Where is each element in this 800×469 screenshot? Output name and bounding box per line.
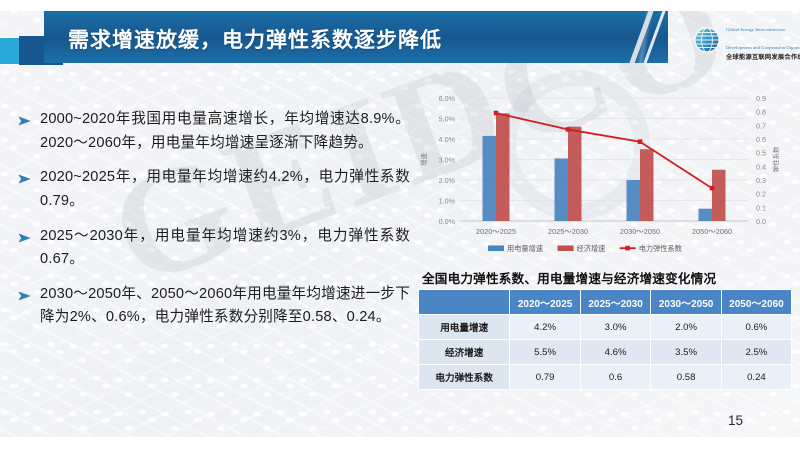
list-item: 2025～2030年，用电量年均增速约3%，电力弹性系数0.67。 [18, 225, 410, 272]
y-axis-tick-label: 0.0% [439, 217, 456, 226]
y-axis-tick-label: 4.0% [439, 135, 456, 144]
y2-axis-tick-label: 0.4 [756, 162, 766, 171]
y2-axis-tick-label: 0.5 [756, 149, 766, 158]
arrow-bullet-icon [18, 166, 40, 189]
x-axis-tick-label: 2030～2050 [620, 227, 660, 236]
slide-canvas: GEIDCO 需求增速放缓，电力弹性系数逐步降低 [0, 0, 800, 450]
list-item: 2020~2025年，用电量年均增速约4.2%，电力弹性系数0.79。 [18, 166, 410, 213]
y2-axis-tick-label: 0.7 [756, 121, 766, 130]
table-column-header: 2025～2030 [580, 290, 650, 315]
logo-english-line-2: Development and Cooperation Organization [726, 45, 800, 50]
bar-economic-growth [640, 149, 654, 221]
y2-axis-tick-label: 0.9 [756, 94, 766, 103]
legend-label: 经济增速 [577, 244, 606, 253]
legend-label: 用电量增速 [507, 244, 543, 253]
table-row-label: 用电量增速 [419, 315, 510, 340]
table-row-label: 经济增速 [419, 340, 510, 365]
data-table: 2020～2025 2025～2030 2030～2050 2050～2060 … [418, 289, 792, 390]
y2-axis-tick-label: 0.1 [756, 203, 766, 212]
page-number: 15 [728, 413, 743, 428]
y-axis-tick-label: 6.0% [439, 94, 456, 103]
bar-electricity-growth [483, 136, 497, 221]
y2-axis-title: 弹性系数 [771, 146, 780, 173]
table-row: 经济增速 5.5% 4.6% 3.5% 2.5% [419, 340, 792, 365]
line-data-point [710, 186, 715, 191]
bar-economic-growth [568, 127, 582, 221]
table-cell: 2.0% [651, 315, 721, 340]
table-cell: 3.5% [651, 340, 721, 365]
y2-axis-tick-label: 0.8 [756, 108, 766, 117]
table-title: 全国电力弹性系数、用电量增速与经济增速变化情况 [422, 268, 716, 287]
elasticity-line [496, 113, 712, 188]
list-item-label: 2000~2020年我国用电量高速增长，年均增速达8.9%。2020～2060年… [40, 108, 410, 155]
organization-logo: Global Energy Interconnection Developmen… [694, 18, 800, 62]
y-axis-tick-label: 3.0% [439, 156, 456, 165]
table-row: 电力弹性系数 0.79 0.6 0.58 0.24 [419, 365, 792, 390]
table-row-label: 电力弹性系数 [419, 365, 510, 390]
y-axis-tick-label: 5.0% [439, 115, 456, 124]
table-cell: 3.0% [580, 315, 650, 340]
bottom-margin-strip [0, 437, 800, 450]
table-cell: 0.79 [510, 365, 580, 390]
bar-electricity-growth [627, 180, 641, 221]
logo-english-line-1: Global Energy Interconnection [726, 27, 786, 32]
list-item-label: 2030～2050年、2050～2060年用电量年均增速进一步下降为2%、0.6… [40, 283, 410, 330]
y2-axis-tick-label: 0.6 [756, 135, 766, 144]
table-cell: 5.5% [510, 340, 580, 365]
legend-swatch [558, 246, 574, 252]
legend-swatch [488, 246, 504, 252]
x-axis-tick-label: 2020～2025 [476, 227, 516, 236]
table-cell: 4.6% [580, 340, 650, 365]
combo-chart: 0.0%1.0%2.0%3.0%4.0%5.0%6.0%0.00.10.20.3… [418, 88, 796, 260]
list-item-label: 2025～2030年，用电量年均增速约3%，电力弹性系数0.67。 [40, 225, 410, 272]
x-axis-tick-label: 2025～2030 [548, 227, 588, 236]
y-axis-tick-label: 1.0% [439, 197, 456, 206]
logo-text-block: Global Energy Interconnection Developmen… [726, 18, 800, 62]
bar-electricity-growth [555, 158, 569, 221]
list-item: 2000~2020年我国用电量高速增长，年均增速达8.9%。2020～2060年… [18, 108, 410, 155]
arrow-bullet-icon [18, 283, 40, 306]
table-corner-cell [419, 290, 510, 315]
bar-economic-growth [496, 113, 510, 221]
list-item-label: 2020~2025年，用电量年均增速约4.2%，电力弹性系数0.79。 [40, 166, 410, 213]
top-margin-strip [0, 0, 800, 11]
arrow-bullet-icon [18, 225, 40, 248]
table-row: 用电量增速 4.2% 3.0% 2.0% 0.6% [419, 315, 792, 340]
bar-economic-growth [712, 170, 726, 221]
x-axis-tick-label: 2050～2060 [692, 227, 732, 236]
y2-axis-tick-label: 0.3 [756, 176, 766, 185]
line-data-point [638, 139, 643, 144]
table-cell: 0.6 [580, 365, 650, 390]
table-cell: 2.5% [721, 340, 791, 365]
bullet-list: 2000~2020年我国用电量高速增长，年均增速达8.9%。2020～2060年… [18, 108, 410, 341]
bar-electricity-growth [699, 209, 713, 221]
table-cell: 0.24 [721, 365, 791, 390]
line-data-point [566, 127, 571, 132]
globe-icon [694, 27, 720, 53]
slide-header: 需求增速放缓，电力弹性系数逐步降低 [0, 11, 800, 63]
page-title: 需求增速放缓，电力弹性系数逐步降低 [68, 24, 442, 54]
logo-chinese-name: 全球能源互联网发展合作组织 [726, 55, 800, 62]
legend-label: 电力弹性系数 [639, 244, 682, 253]
y-axis-title: 增速 [419, 153, 428, 167]
header-slash-decoration [629, 11, 689, 63]
table-cell: 4.2% [510, 315, 580, 340]
chart-canvas: 0.0%1.0%2.0%3.0%4.0%5.0%6.0%0.00.10.20.3… [418, 88, 796, 260]
table-cell: 0.58 [651, 365, 721, 390]
table-cell: 0.6% [721, 315, 791, 340]
table-column-header: 2050～2060 [721, 290, 791, 315]
table-header-row: 2020～2025 2025～2030 2030～2050 2050～2060 [419, 290, 792, 315]
table-column-header: 2020～2025 [510, 290, 580, 315]
legend-marker [625, 246, 630, 251]
y-axis-tick-label: 2.0% [439, 176, 456, 185]
list-item: 2030～2050年、2050～2060年用电量年均增速进一步下降为2%、0.6… [18, 283, 410, 330]
table-column-header: 2030～2050 [651, 290, 721, 315]
arrow-bullet-icon [18, 108, 40, 131]
line-data-point [494, 111, 499, 116]
y2-axis-tick-label: 0.2 [756, 190, 766, 199]
y2-axis-tick-label: 0.0 [756, 217, 766, 226]
